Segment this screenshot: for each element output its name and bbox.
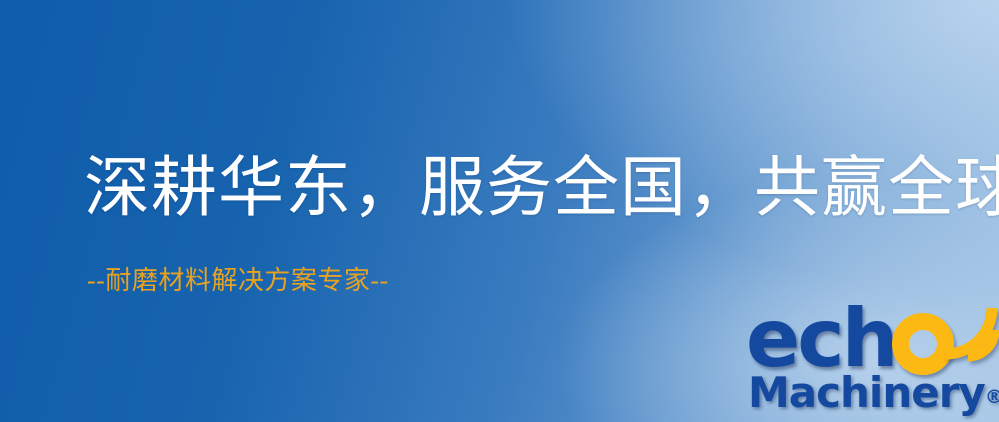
logo-tagline-text: Machinery: [748, 368, 985, 417]
banner-subtitle: --耐磨材料解决方案专家--: [87, 265, 389, 297]
logo-wordmark: ech: [744, 296, 994, 374]
signal-arcs-icon: [930, 292, 999, 364]
echo-machinery-logo[interactable]: ech Machinery®: [744, 296, 994, 418]
banner-headline: 深耕华东，服务全国，共赢全球: [84, 150, 999, 228]
promotional-banner: 深耕华东，服务全国，共赢全球 --耐磨材料解决方案专家-- ech Machin…: [0, 0, 999, 422]
logo-tagline: Machinery®: [748, 368, 999, 417]
registered-trademark-icon: ®: [985, 386, 999, 408]
